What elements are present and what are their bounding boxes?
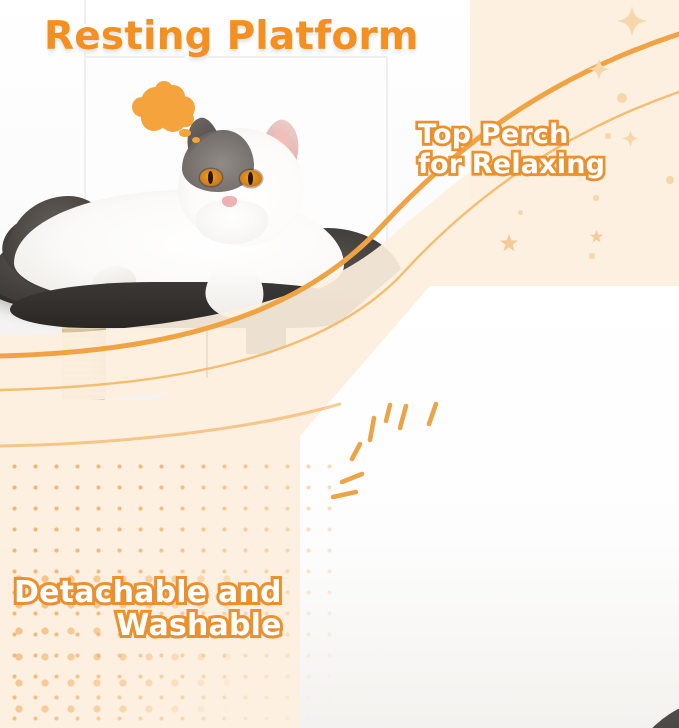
sparkle-four-point-icon bbox=[588, 58, 610, 80]
sparkle-four-point-icon bbox=[617, 6, 647, 36]
headline-resting-platform: Resting Platform bbox=[44, 16, 419, 59]
decor-dot bbox=[518, 210, 523, 215]
sparkle-five-point-icon bbox=[500, 234, 518, 252]
decor-dot bbox=[605, 133, 611, 139]
decor-dot bbox=[666, 176, 674, 184]
headline-top-perch: Top Perch for Relaxing bbox=[418, 120, 605, 179]
headline-detachable-washable: Detachable and Washable bbox=[14, 576, 282, 642]
thought-bubble bbox=[126, 80, 208, 146]
sparkle-five-point-icon bbox=[590, 230, 603, 243]
decor-dot bbox=[593, 195, 599, 201]
decor-dot bbox=[617, 93, 627, 103]
sparkle-four-point-icon bbox=[622, 130, 639, 147]
decor-dot bbox=[589, 253, 595, 259]
product-feature-poster: Resting Platform Top Perch for Relaxing … bbox=[0, 0, 679, 728]
